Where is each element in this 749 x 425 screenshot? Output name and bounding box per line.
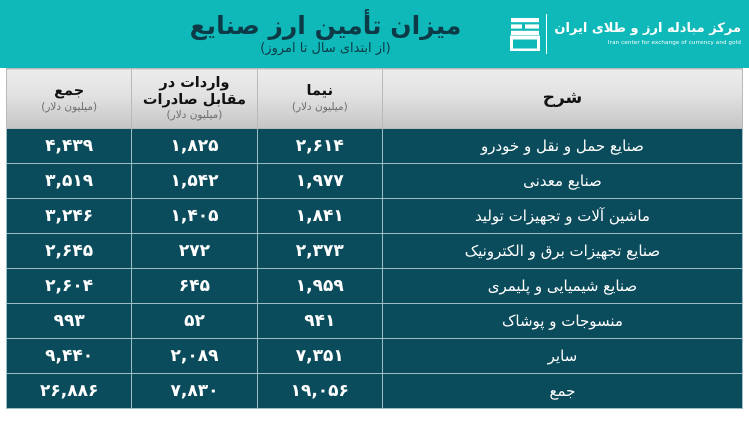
cell-desc: سایر — [382, 339, 742, 374]
cell-nima: ۱۹,۰۵۶ — [257, 374, 382, 409]
column-header-imports-title: واردات در مقابل صادرات — [136, 75, 252, 108]
column-header-sum-unit: (میلیون دلار) — [11, 101, 127, 114]
cell-desc: منسوجات و پوشاک — [382, 304, 742, 339]
table-row: جمع۱۹,۰۵۶۷,۸۳۰۲۶,۸۸۶ — [7, 374, 743, 409]
table-row: سایر۷,۳۵۱۲,۰۸۹۹,۴۴۰ — [7, 339, 743, 374]
table-row: منسوجات و پوشاک۹۴۱۵۲۹۹۳ — [7, 304, 743, 339]
table-row: صنایع تجهیزات برق و الکترونیک۲,۳۷۳۲۷۲۲,۶… — [7, 234, 743, 269]
table-body: صنایع حمل و نقل و خودرو۲,۶۱۴۱,۸۲۵۴,۴۳۹صن… — [7, 129, 743, 409]
cell-nima: ۷,۳۵۱ — [257, 339, 382, 374]
cell-sum: ۴,۴۳۹ — [7, 129, 132, 164]
header-banner: میزان تأمین ارز صنایع (از ابتدای سال تا … — [0, 0, 749, 68]
currency-supply-table: شرح نیما (میلیون دلار) واردات در مقابل ص… — [6, 68, 743, 409]
cell-sum: ۳,۵۱۹ — [7, 164, 132, 199]
table-row: صنایع حمل و نقل و خودرو۲,۶۱۴۱,۸۲۵۴,۴۳۹ — [7, 129, 743, 164]
page-subtitle: (از ابتدای سال تا امروز) — [190, 41, 462, 57]
organization-logo: مرکز مبادله ارز و طلای ایران Iran center… — [510, 11, 741, 57]
table-header: شرح نیما (میلیون دلار) واردات در مقابل ص… — [7, 69, 743, 129]
cell-imports: ۷,۸۳۰ — [132, 374, 257, 409]
cell-nima: ۱,۹۵۹ — [257, 269, 382, 304]
cell-imports: ۵۲ — [132, 304, 257, 339]
cell-sum: ۲,۶۰۴ — [7, 269, 132, 304]
cell-sum: ۹۹۳ — [7, 304, 132, 339]
table-header-row: شرح نیما (میلیون دلار) واردات در مقابل ص… — [7, 69, 743, 129]
cell-nima: ۱,۹۷۷ — [257, 164, 382, 199]
cell-nima: ۲,۶۱۴ — [257, 129, 382, 164]
cell-sum: ۲,۶۴۵ — [7, 234, 132, 269]
cell-desc: صنایع شیمیایی و پلیمری — [382, 269, 742, 304]
column-header-nima-unit: (میلیون دلار) — [262, 101, 378, 114]
cell-desc: جمع — [382, 374, 742, 409]
infographic-root: میزان تأمین ارز صنایع (از ابتدای سال تا … — [0, 0, 749, 425]
table-row: صنایع معدنی۱,۹۷۷۱,۵۴۲۳,۵۱۹ — [7, 164, 743, 199]
cell-desc: صنایع حمل و نقل و خودرو — [382, 129, 742, 164]
logo-name-fa: مرکز مبادله ارز و طلای ایران — [554, 22, 741, 37]
cell-sum: ۳,۲۴۶ — [7, 199, 132, 234]
column-header-imports: واردات در مقابل صادرات (میلیون دلار) — [132, 69, 257, 129]
cell-imports: ۱,۴۰۵ — [132, 199, 257, 234]
logo-text-block: مرکز مبادله ارز و طلای ایران Iran center… — [546, 14, 741, 54]
table-row: ماشین آلات و تجهیزات تولید۱,۸۴۱۱,۴۰۵۳,۲۴… — [7, 199, 743, 234]
logo-mark-icon — [510, 18, 540, 51]
cell-desc: صنایع تجهیزات برق و الکترونیک — [382, 234, 742, 269]
column-header-sum-title: جمع — [11, 83, 127, 100]
cell-nima: ۲,۳۷۳ — [257, 234, 382, 269]
cell-imports: ۱,۸۲۵ — [132, 129, 257, 164]
column-header-desc: شرح — [382, 69, 742, 129]
column-header-nima-title: نیما — [262, 83, 378, 100]
column-header-nima: نیما (میلیون دلار) — [257, 69, 382, 129]
page-title: میزان تأمین ارز صنایع — [190, 12, 462, 39]
cell-imports: ۲۷۲ — [132, 234, 257, 269]
cell-imports: ۶۴۵ — [132, 269, 257, 304]
table-container: شرح نیما (میلیون دلار) واردات در مقابل ص… — [0, 68, 749, 415]
cell-nima: ۱,۸۴۱ — [257, 199, 382, 234]
column-header-desc-title: شرح — [387, 89, 738, 109]
logo-name-en: Iran center for exchange of currency and… — [608, 40, 741, 46]
table-row: صنایع شیمیایی و پلیمری۱,۹۵۹۶۴۵۲,۶۰۴ — [7, 269, 743, 304]
cell-imports: ۲,۰۸۹ — [132, 339, 257, 374]
cell-desc: صنایع معدنی — [382, 164, 742, 199]
column-header-sum: جمع (میلیون دلار) — [7, 69, 132, 129]
column-header-imports-unit: (میلیون دلار) — [136, 109, 252, 122]
cell-sum: ۹,۴۴۰ — [7, 339, 132, 374]
cell-desc: ماشین آلات و تجهیزات تولید — [382, 199, 742, 234]
cell-nima: ۹۴۱ — [257, 304, 382, 339]
header-title-block: میزان تأمین ارز صنایع (از ابتدای سال تا … — [190, 12, 462, 57]
cell-sum: ۲۶,۸۸۶ — [7, 374, 132, 409]
cell-imports: ۱,۵۴۲ — [132, 164, 257, 199]
